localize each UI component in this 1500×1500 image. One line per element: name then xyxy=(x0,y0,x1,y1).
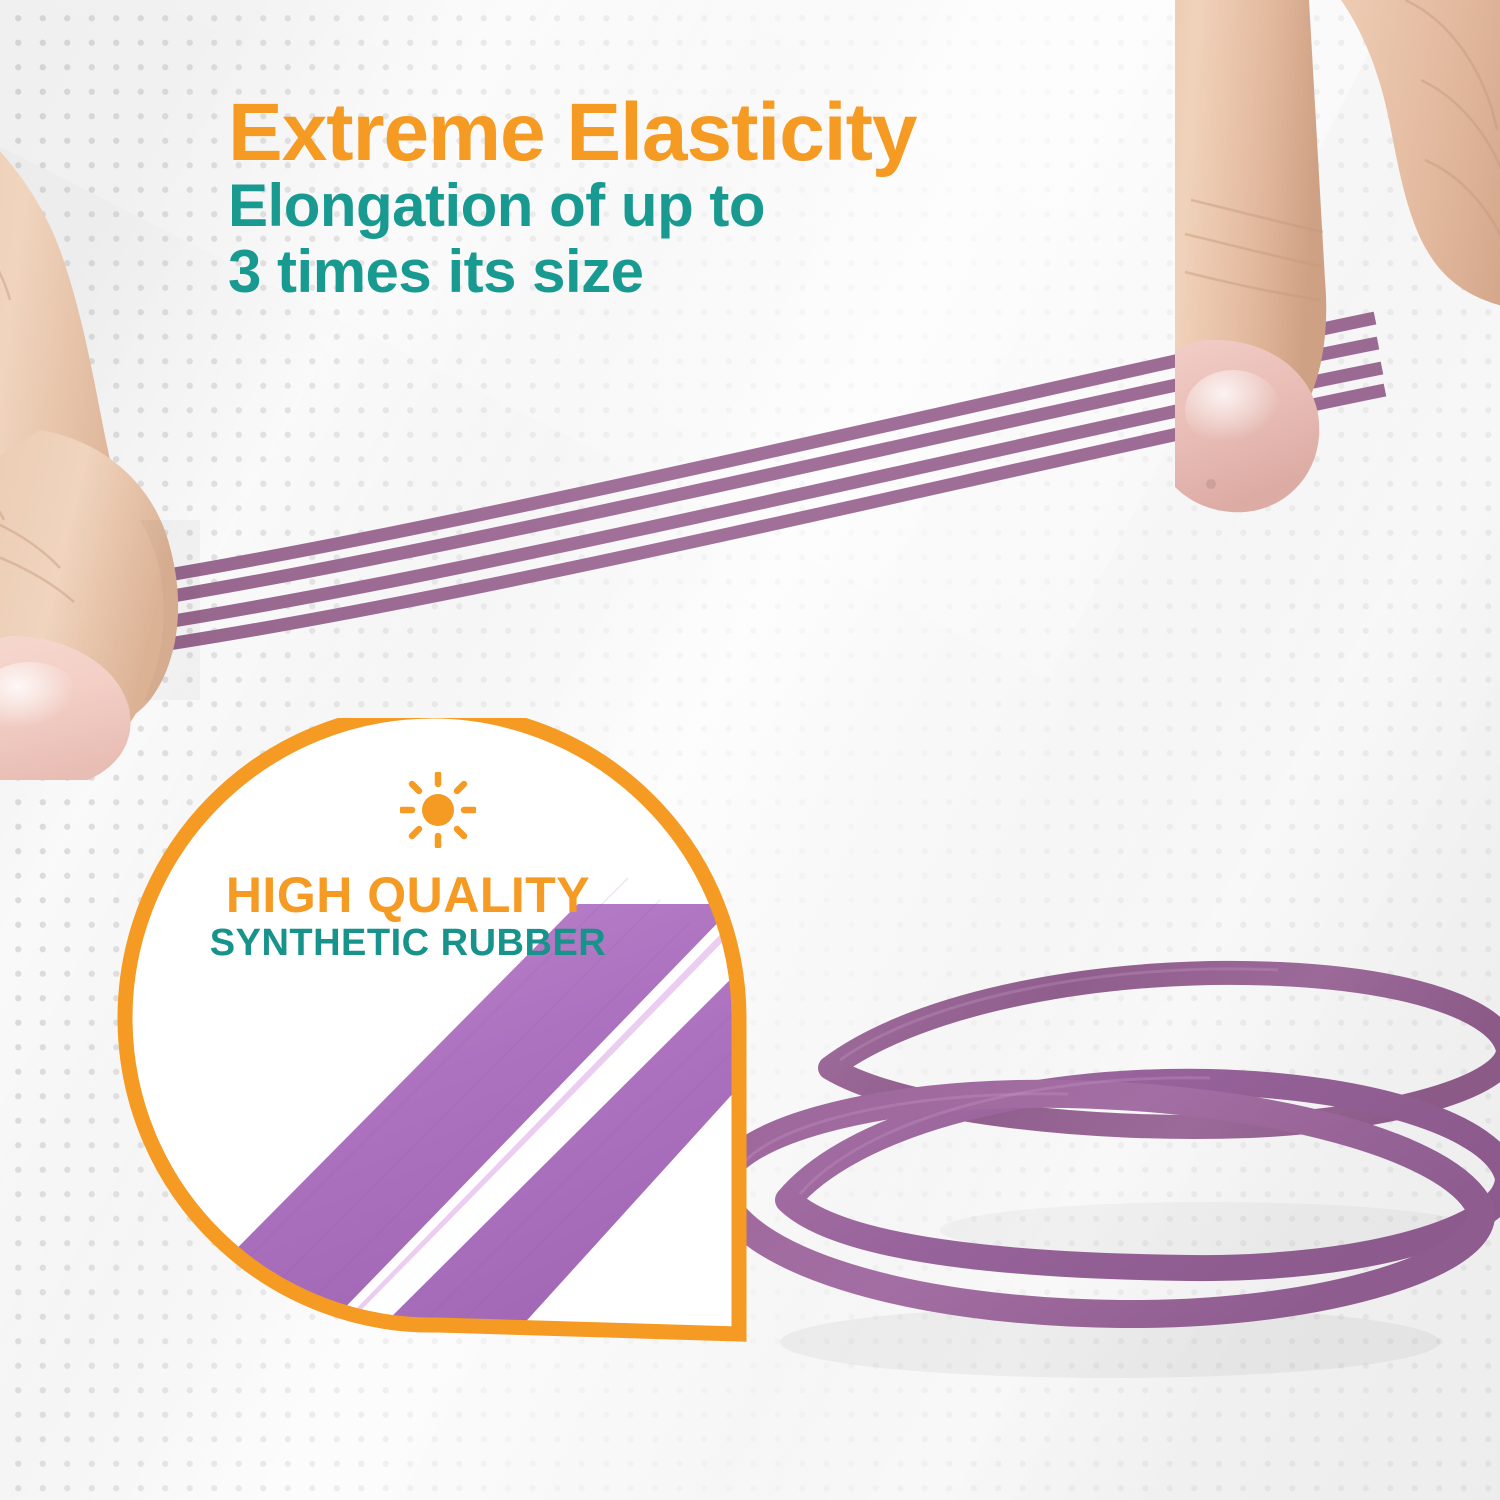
headline-subtitle-line-1: Elongation of up to xyxy=(228,175,1128,237)
quality-badge: HIGH QUALITY SYNTHETIC RUBBER xyxy=(108,718,756,1350)
headline-subtitle-line-2: 3 times its size xyxy=(228,241,1128,303)
badge-headline: HIGH QUALITY xyxy=(148,866,668,924)
sun-icon xyxy=(400,772,476,848)
badge-subheadline: SYNTHETIC RUBBER xyxy=(148,922,668,965)
product-feature-image: HIGH QUALITY SYNTHETIC RUBBER Extreme El… xyxy=(0,0,1500,1500)
page-title: Extreme Elasticity xyxy=(228,94,1128,171)
headline-block: Extreme Elasticity Elongation of up to 3… xyxy=(228,94,1128,304)
